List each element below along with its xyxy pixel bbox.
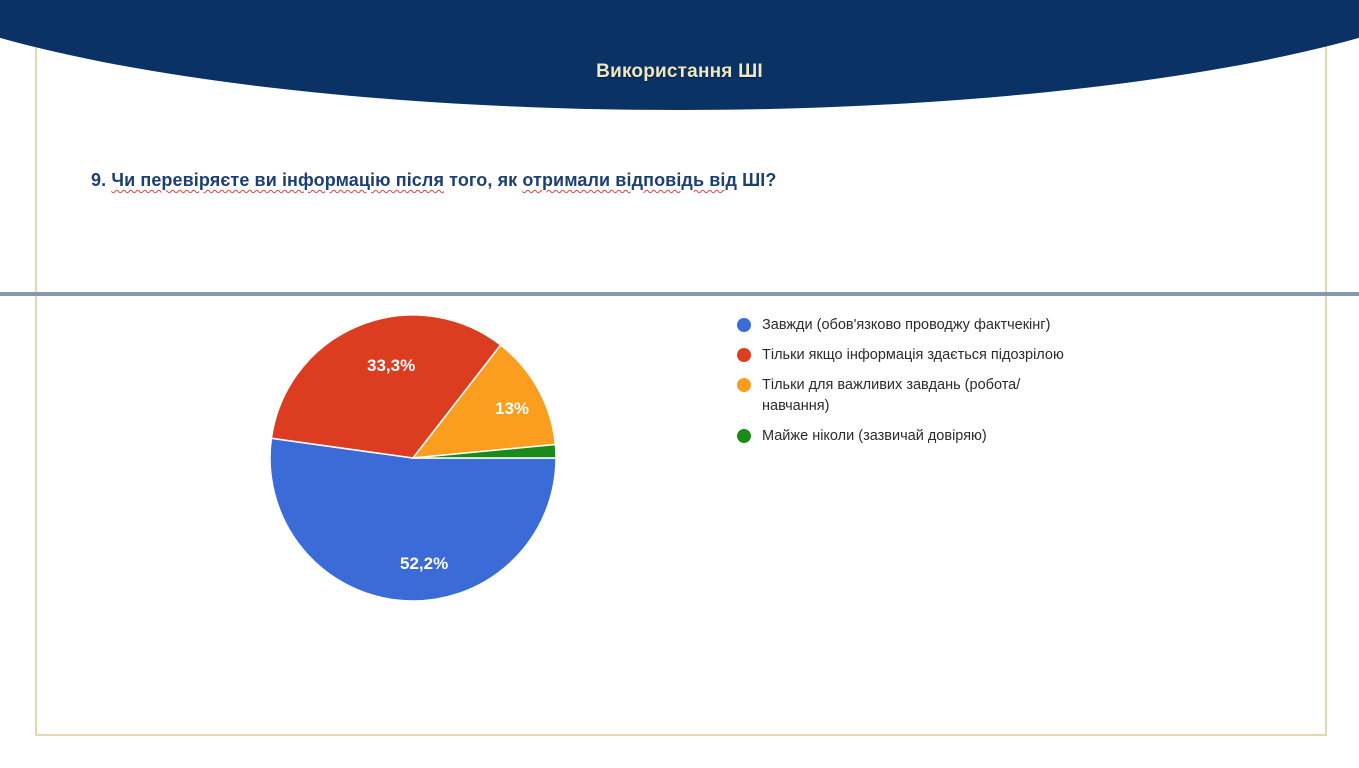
pie-slice-label: 52,2% <box>400 554 448 573</box>
legend-item-almost-never[interactable]: Майже ніколи (зазвичай довіряю) <box>737 426 1137 447</box>
legend-label-always: Завжди (обов'язково проводжу фактчекінг) <box>762 315 1050 336</box>
legend-label-important-tasks: Тільки для важливих завдань (робота/навч… <box>762 375 1080 417</box>
legend-swatch-blue-icon <box>737 318 751 332</box>
chart-legend: Завжди (обов'язково проводжу фактчекінг)… <box>737 315 1137 456</box>
question-number: 9. <box>91 170 111 190</box>
question-heading: 9. Чи перевіряєте ви інформацію після то… <box>91 170 777 191</box>
question-segment-3: отримали відповідь від <box>522 170 737 190</box>
legend-item-important-tasks[interactable]: Тільки для важливих завдань (робота/навч… <box>737 375 1137 417</box>
header-divider-line <box>0 292 1359 296</box>
pie-chart-svg: 52,2%33,3%13% <box>263 314 563 602</box>
legend-label-if-suspicious: Тільки якщо інформація здається підозріл… <box>762 345 1064 366</box>
page-title: Використання ШІ <box>0 61 1359 83</box>
legend-swatch-green-icon <box>737 429 751 443</box>
legend-item-always[interactable]: Завжди (обов'язково проводжу фактчекінг) <box>737 315 1137 336</box>
slide-canvas: Використання ШІ 9. Чи перевіряєте ви інф… <box>0 0 1359 768</box>
pie-slice-label: 13% <box>495 399 529 418</box>
legend-swatch-orange-icon <box>737 378 751 392</box>
question-segment-1: Чи перевіряєте ви інформацію після <box>111 170 444 190</box>
pie-slice[interactable] <box>270 438 556 601</box>
legend-label-almost-never: Майже ніколи (зазвичай довіряю) <box>762 426 987 447</box>
legend-item-if-suspicious[interactable]: Тільки якщо інформація здається підозріл… <box>737 345 1137 366</box>
legend-swatch-red-icon <box>737 348 751 362</box>
pie-chart: 52,2%33,3%13% <box>263 314 563 602</box>
pie-slice-label: 33,3% <box>367 356 415 375</box>
question-segment-2: того, як <box>444 170 522 190</box>
question-segment-4: ШІ? <box>737 170 777 190</box>
